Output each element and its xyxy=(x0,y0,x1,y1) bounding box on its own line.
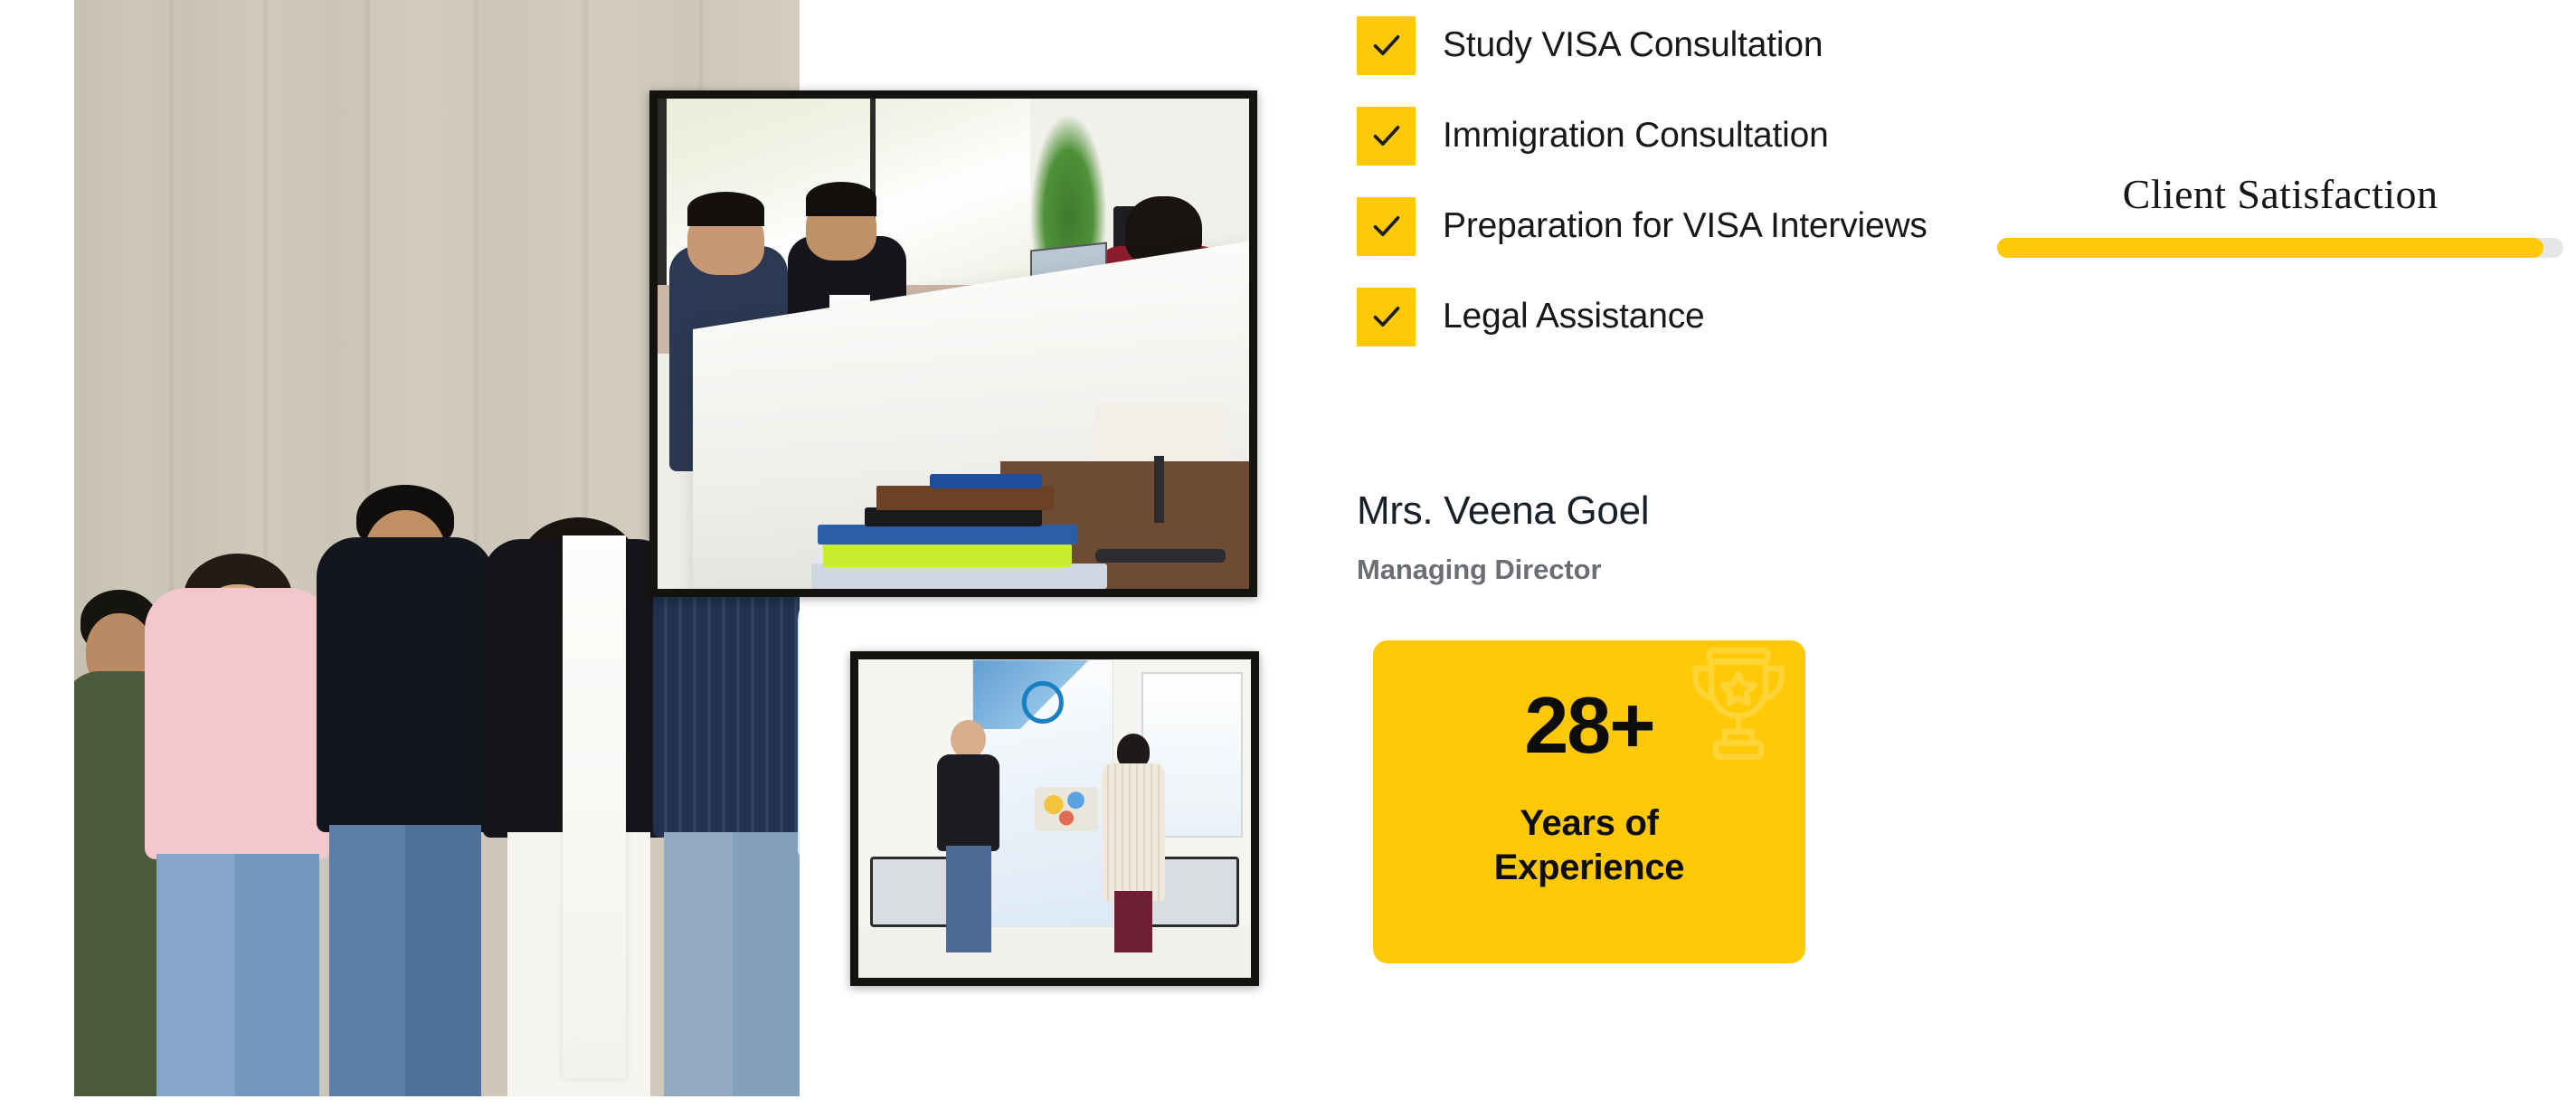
services-checklist: Study VISA Consultation Immigration Cons… xyxy=(1357,14,1927,376)
person-hair xyxy=(806,182,876,216)
check-icon xyxy=(1357,197,1416,256)
photo-collage xyxy=(0,0,1284,1118)
about-section: Study VISA Consultation Immigration Cons… xyxy=(0,0,2576,1118)
director-name: Mrs. Veena Goel xyxy=(1357,490,1649,532)
experience-caption: Years of Experience xyxy=(1373,801,1805,890)
service-item-0[interactable]: Study VISA Consultation xyxy=(1357,14,1927,76)
person-hair xyxy=(687,192,764,226)
meeting-room-photo xyxy=(649,90,1257,597)
service-item-1[interactable]: Immigration Consultation xyxy=(1357,105,1927,166)
person-figure xyxy=(145,554,331,1096)
experience-number: 28+ xyxy=(1373,686,1805,765)
document-strip xyxy=(563,535,626,1078)
experience-caption-line2: Experience xyxy=(1494,848,1684,887)
award-handover-photo xyxy=(850,651,1259,986)
floor xyxy=(858,927,1251,978)
content-panel: Study VISA Consultation Immigration Cons… xyxy=(1284,0,2576,1118)
client-satisfaction-block: Client Satisfaction xyxy=(1997,172,2563,258)
person-figure xyxy=(937,710,999,952)
meeting-scene xyxy=(658,99,1249,589)
satisfaction-progress-fill xyxy=(1997,238,2543,258)
experience-caption-line1: Years of xyxy=(1520,803,1658,843)
experience-badge: 28+ Years of Experience xyxy=(1373,640,1805,963)
check-icon xyxy=(1357,16,1416,75)
check-icon xyxy=(1357,288,1416,346)
office-chair xyxy=(1095,403,1226,569)
document-stack xyxy=(811,432,1107,589)
banner-logo-icon xyxy=(1022,681,1064,723)
satisfaction-title: Client Satisfaction xyxy=(1997,172,2563,218)
service-label: Preparation for VISA Interviews xyxy=(1443,206,1927,246)
director-role: Managing Director xyxy=(1357,554,1649,586)
service-label: Legal Assistance xyxy=(1443,297,1705,336)
bouquet xyxy=(1035,787,1097,831)
person-figure xyxy=(653,517,800,1096)
satisfaction-progress-track xyxy=(1997,238,2563,258)
director-block: Mrs. Veena Goel Managing Director xyxy=(1357,490,1649,586)
service-label: Study VISA Consultation xyxy=(1443,25,1823,65)
person-figure xyxy=(798,543,800,1096)
person-figure xyxy=(317,485,494,1096)
plant xyxy=(1030,113,1107,261)
service-item-3[interactable]: Legal Assistance xyxy=(1357,286,1927,347)
award-scene xyxy=(858,659,1251,978)
service-label: Immigration Consultation xyxy=(1443,116,1829,156)
person-figure xyxy=(1102,716,1164,952)
service-item-2[interactable]: Preparation for VISA Interviews xyxy=(1357,195,1927,257)
check-icon xyxy=(1357,107,1416,166)
